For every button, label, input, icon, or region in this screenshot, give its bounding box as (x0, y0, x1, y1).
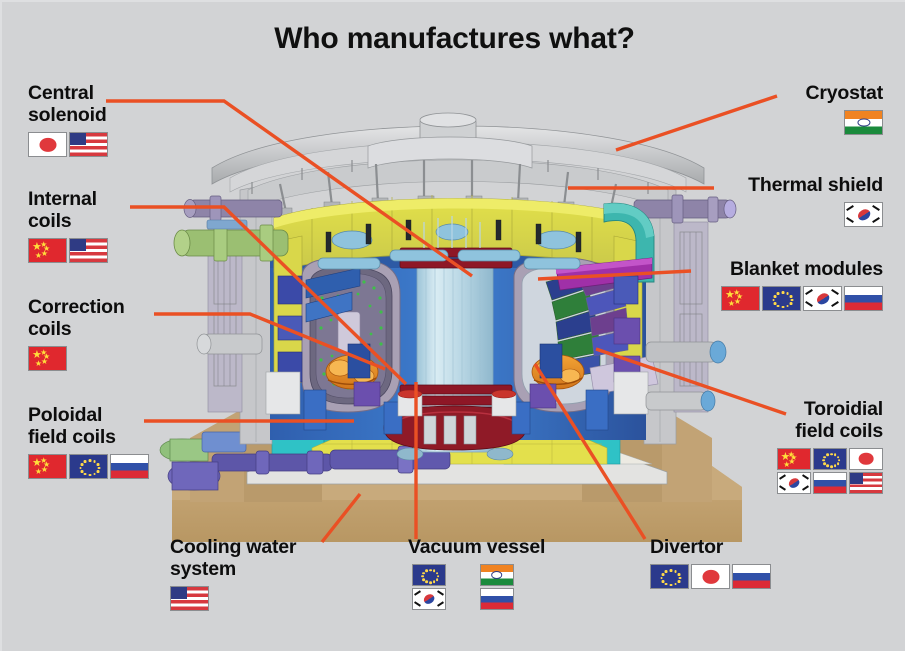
label-toroidal-field-coils-text: Toroidial field coils (777, 398, 883, 442)
flags-divertor (650, 564, 771, 589)
european-union-flag (762, 286, 801, 311)
label-internal-coils[interactable]: Internal coils ★★★ ★★ (28, 188, 108, 263)
label-correction-coils[interactable]: Correction coils ★★★ ★★ (28, 296, 125, 371)
flags-blanket-modules: ★★★ ★★ (721, 286, 883, 311)
japan-flag (849, 448, 883, 470)
infographic-page: Who manufactures what? (0, 0, 905, 651)
south-korea-flag (777, 472, 811, 494)
label-poloidal-field-coils[interactable]: Poloidal field coils ★★★ ★★ (28, 404, 149, 479)
page-title: Who manufactures what? (2, 22, 905, 56)
label-blanket-modules-text: Blanket modules (721, 258, 883, 280)
flags-internal-coils: ★★★ ★★ (28, 238, 108, 263)
european-union-flag (69, 454, 108, 479)
flags-cryostat (805, 110, 883, 135)
flags-toroidal-field-coils: ★★★ ★★ (777, 448, 883, 494)
tokamak-cutaway-illustration (152, 72, 762, 542)
flags-poloidal-field-coils: ★★★ ★★ (28, 454, 149, 479)
usa-flag (69, 132, 108, 157)
china-flag: ★★★ ★★ (721, 286, 760, 311)
china-flag: ★★★ ★★ (28, 238, 67, 263)
russia-flag (844, 286, 883, 311)
label-cooling-water-system[interactable]: Cooling water system (170, 536, 296, 611)
russia-flag (813, 472, 847, 494)
russia-flag (110, 454, 149, 479)
south-korea-flag (412, 588, 446, 610)
flags-cooling-water-system (170, 586, 296, 611)
flags-thermal-shield (748, 202, 883, 227)
label-vacuum-vessel[interactable]: Vacuum vessel (408, 536, 545, 610)
label-poloidal-field-coils-text: Poloidal field coils (28, 404, 149, 448)
european-union-flag (412, 564, 446, 586)
usa-flag (849, 472, 883, 494)
label-blanket-modules[interactable]: Blanket modules ★★★ ★★ (721, 258, 883, 311)
label-internal-coils-text: Internal coils (28, 188, 108, 232)
label-central-solenoid-text: Central solenoid (28, 82, 108, 126)
south-korea-flag (803, 286, 842, 311)
label-vacuum-vessel-text: Vacuum vessel (408, 536, 545, 558)
china-flag: ★★★ ★★ (28, 346, 67, 371)
flags-vacuum-vessel (412, 564, 545, 610)
label-cryostat[interactable]: Cryostat (805, 82, 883, 135)
japan-flag (691, 564, 730, 589)
flags-correction-coils: ★★★ ★★ (28, 346, 125, 371)
european-union-flag (813, 448, 847, 470)
usa-flag (69, 238, 108, 263)
china-flag: ★★★ ★★ (777, 448, 811, 470)
label-correction-coils-text: Correction coils (28, 296, 125, 340)
south-korea-flag (844, 202, 883, 227)
japan-flag (28, 132, 67, 157)
label-cooling-water-system-text: Cooling water system (170, 536, 296, 580)
label-toroidal-field-coils[interactable]: Toroidial field coils ★★★ ★★ (777, 398, 883, 494)
label-thermal-shield[interactable]: Thermal shield (748, 174, 883, 227)
usa-flag (170, 586, 209, 611)
india-flag (844, 110, 883, 135)
china-flag: ★★★ ★★ (28, 454, 67, 479)
flags-central-solenoid (28, 132, 108, 157)
label-central-solenoid[interactable]: Central solenoid (28, 82, 108, 157)
label-divertor[interactable]: Divertor (650, 536, 771, 589)
label-divertor-text: Divertor (650, 536, 771, 558)
label-cryostat-text: Cryostat (805, 82, 883, 104)
india-flag (480, 564, 514, 586)
russia-flag (480, 588, 514, 610)
russia-flag (732, 564, 771, 589)
label-thermal-shield-text: Thermal shield (748, 174, 883, 196)
european-union-flag (650, 564, 689, 589)
